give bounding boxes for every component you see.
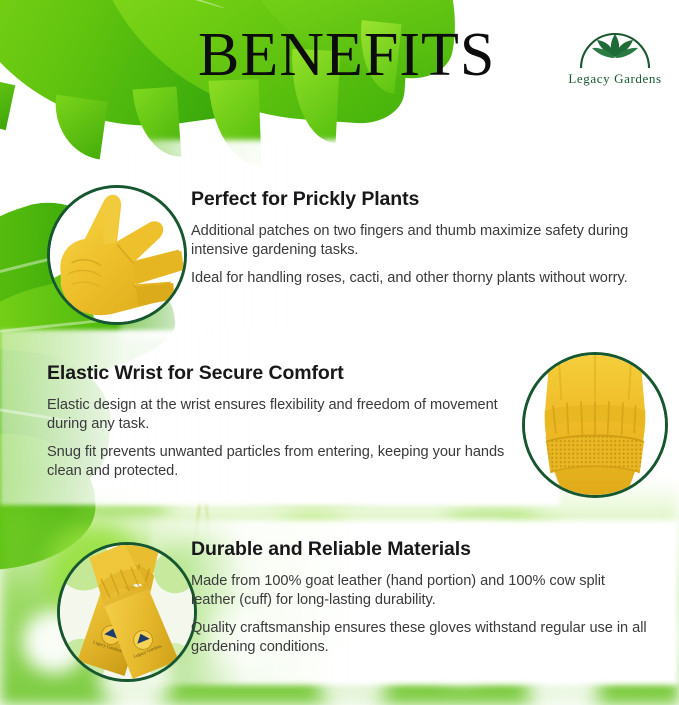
leaf-arc-emblem-icon: [559, 26, 671, 70]
brand-name: Legacy Gardens: [559, 71, 671, 87]
benefit-paragraph: Quality craftsmanship ensures these glov…: [191, 619, 651, 656]
glove-palm-fingers-photo: [47, 185, 187, 325]
benefit-heading: Perfect for Prickly Plants: [191, 188, 651, 211]
benefit-paragraph: Additional patches on two fingers and th…: [191, 222, 651, 259]
header: BENEFITS Legacy Gardens: [0, 0, 679, 120]
benefit-heading: Durable and Reliable Materials: [191, 538, 651, 561]
benefit-copy-3: Durable and Reliable Materials Made from…: [191, 538, 651, 656]
elastic-wrist-illustration: [525, 355, 665, 495]
benefit-paragraph: Made from 100% goat leather (hand portio…: [191, 572, 651, 609]
benefit-copy-2: Elastic Wrist for Secure Comfort Elastic…: [47, 362, 517, 480]
crossed-gloves-illustration: Legacy Gardens Legacy Gardens: [60, 545, 194, 679]
benefit-heading: Elastic Wrist for Secure Comfort: [47, 362, 517, 385]
page-title: BENEFITS: [198, 24, 518, 86]
crossed-long-cuff-gloves-photo: Legacy Gardens Legacy Gardens: [57, 542, 197, 682]
glove-palm-illustration: [50, 188, 184, 322]
benefit-paragraph: Ideal for handling roses, cacti, and oth…: [191, 269, 651, 288]
infographic-canvas: BENEFITS Legacy Gardens: [0, 0, 679, 705]
benefit-copy-1: Perfect for Prickly Plants Additional pa…: [191, 188, 651, 288]
benefit-paragraph: Snug fit prevents unwanted particles fro…: [47, 443, 517, 480]
glove-elastic-wrist-photo: [522, 352, 668, 498]
benefit-paragraph: Elastic design at the wrist ensures flex…: [47, 396, 517, 433]
brand-logo: Legacy Gardens: [559, 26, 671, 96]
plant-stem: [204, 488, 210, 536]
